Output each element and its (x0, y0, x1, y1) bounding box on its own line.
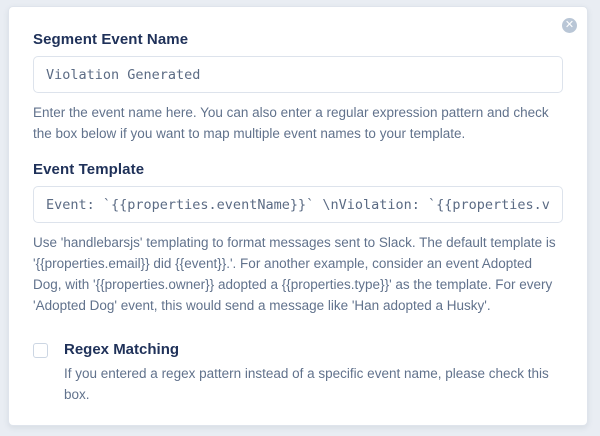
segment-event-name-help: Enter the event name here. You can also … (33, 102, 563, 144)
spacer (33, 144, 563, 161)
segment-event-modal: ✕ Segment Event Name Enter the event nam… (8, 6, 588, 426)
regex-matching-row: Regex Matching If you entered a regex pa… (33, 340, 563, 405)
regex-matching-label[interactable]: Regex Matching (64, 340, 563, 359)
segment-event-name-input[interactable] (33, 56, 563, 93)
regex-matching-content: Regex Matching If you entered a regex pa… (64, 340, 563, 405)
modal-body: ✕ Segment Event Name Enter the event nam… (9, 7, 587, 425)
regex-matching-checkbox[interactable] (33, 343, 48, 358)
event-template-help: Use 'handlebarsjs' templating to format … (33, 232, 563, 316)
close-icon[interactable]: ✕ (562, 18, 577, 33)
event-template-label: Event Template (33, 161, 563, 178)
event-template-input[interactable] (33, 186, 563, 223)
segment-event-name-label: Segment Event Name (33, 31, 563, 48)
regex-matching-help: If you entered a regex pattern instead o… (64, 363, 563, 405)
